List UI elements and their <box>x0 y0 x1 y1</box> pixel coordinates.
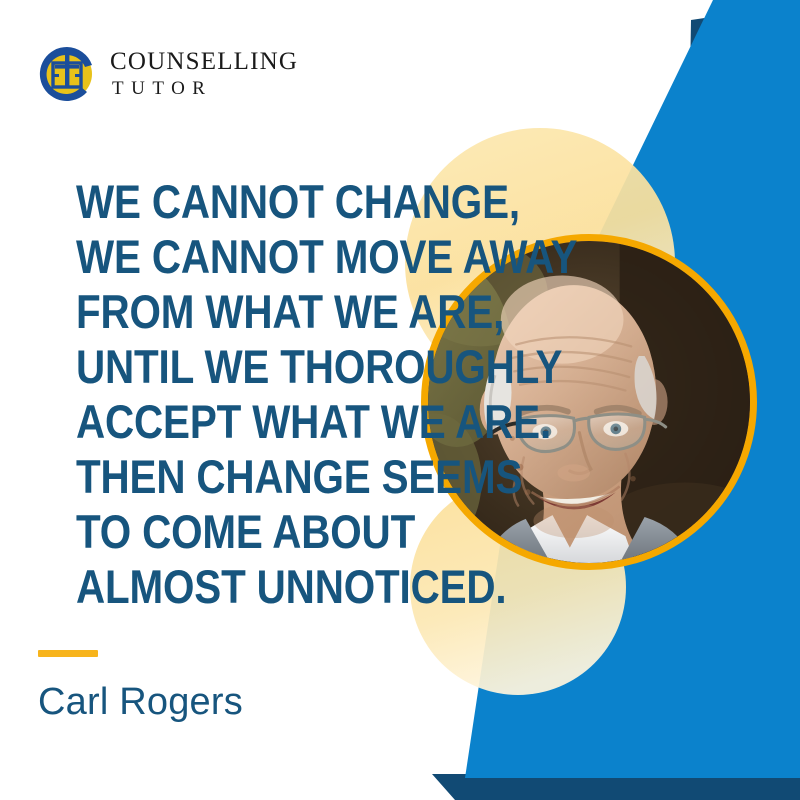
quote-line: ACCEPT WHAT WE ARE. <box>76 394 446 449</box>
attribution-block: Carl Rogers <box>38 650 243 721</box>
brand-logo[interactable]: COUNSELLING TUTOR <box>38 44 298 102</box>
quote-line: TO COME ABOUT <box>76 504 446 559</box>
accent-rule <box>38 650 98 657</box>
quote-line: FROM WHAT WE ARE, <box>76 284 446 339</box>
quote-line: UNTIL WE THOROUGHLY <box>76 339 446 394</box>
quote-line: WE CANNOT CHANGE, <box>76 174 446 229</box>
quote-line: ALMOST UNNOTICED. <box>76 559 446 614</box>
quote-text: WE CANNOT CHANGE, WE CANNOT MOVE AWAY FR… <box>76 174 506 614</box>
quote-line: THEN CHANGE SEEMS <box>76 449 446 504</box>
counselling-tutor-monogram-icon <box>38 44 96 102</box>
quote-card: COUNSELLING TUTOR WE CANNOT CHANGE, WE C… <box>0 0 800 800</box>
brand-name-line2: TUTOR <box>110 79 298 98</box>
author-name: Carl Rogers <box>38 683 243 721</box>
brand-wordmark: COUNSELLING TUTOR <box>110 49 298 98</box>
brand-name-line1: COUNSELLING <box>110 49 298 74</box>
quote-line: WE CANNOT MOVE AWAY <box>76 229 446 284</box>
